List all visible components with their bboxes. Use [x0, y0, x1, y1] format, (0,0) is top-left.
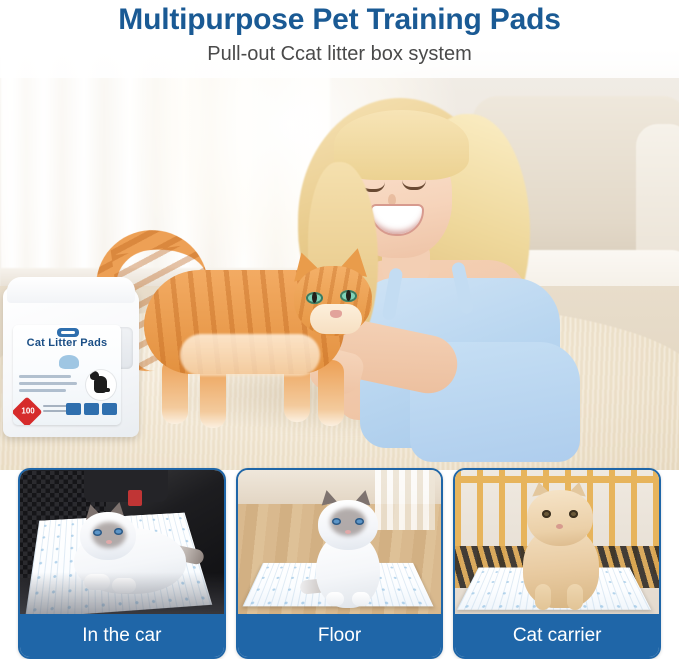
ragdoll-cat-sitting: [300, 488, 400, 610]
package-top: [7, 277, 135, 303]
feature-line: [19, 389, 66, 392]
cat-paw-left: [326, 592, 344, 606]
cat-leg-right: [567, 584, 583, 610]
product-infographic: Cat Litter Pads 100: [0, 0, 679, 659]
cat-silhouette-icon: [86, 370, 116, 400]
car-seat-icon: [20, 470, 224, 618]
feature-line: [19, 375, 71, 378]
british-shorthair-cat: [509, 480, 619, 614]
litter-box-icon: [59, 355, 79, 369]
cat-pupil-left: [312, 292, 317, 303]
cat-eye-right: [114, 528, 123, 535]
cat-nose: [330, 310, 342, 318]
panel-in-the-car[interactable]: In the car: [18, 468, 226, 659]
panel-caption-bar: Cat carrier: [455, 614, 659, 657]
panel-caption-label: Floor: [318, 626, 361, 646]
product-package: Cat Litter Pads 100: [3, 287, 139, 437]
feature-badge-1: [66, 403, 81, 415]
feature-badge-2: [84, 403, 99, 415]
cage-icon: [455, 470, 659, 618]
panel-caption-label: In the car: [82, 626, 161, 646]
cat-eye-right: [355, 518, 364, 525]
count-badge-value: 100: [17, 406, 39, 415]
cat-eye-left: [332, 518, 341, 525]
cat-silhouette-shape: [94, 376, 107, 393]
cat-nose: [345, 530, 351, 534]
panel-caption-label: Cat carrier: [513, 626, 602, 646]
cat-pupil-right: [346, 290, 351, 301]
cat-eye-left: [93, 529, 102, 536]
page-title: Multipurpose Pet Training Pads: [0, 3, 679, 37]
wood-floor-icon: [238, 470, 442, 618]
panel-caption-bar: Floor: [238, 614, 442, 657]
page-subtitle: Pull-out Ccat litter box system: [0, 42, 679, 66]
header: Multipurpose Pet Training Pads Pull-out …: [0, 0, 679, 78]
use-case-panels: In the car: [0, 468, 679, 659]
count-badge: 100: [13, 396, 43, 425]
package-label: Cat Litter Pads 100: [13, 325, 121, 425]
panel-cat-carrier[interactable]: Cat carrier: [453, 468, 661, 659]
feature-line: [19, 382, 77, 385]
package-feature-badges: [66, 403, 117, 415]
panel-floor[interactable]: Floor: [236, 468, 444, 659]
cat-belly: [180, 334, 320, 376]
feature-badge-3: [102, 403, 117, 415]
cat-muzzle: [310, 304, 362, 334]
car-seat-shadow: [20, 572, 224, 618]
panel-caption-bar: In the car: [20, 614, 224, 657]
package-feature-list: [19, 375, 81, 396]
cat-leg-4: [318, 360, 344, 426]
cat-leg-left: [535, 584, 551, 610]
cat-nose: [106, 540, 112, 544]
package-product-name: Cat Litter Pads: [13, 337, 121, 349]
brand-oval-logo: [57, 328, 79, 337]
cat-paw-right: [352, 592, 370, 606]
cat-head: [527, 490, 593, 546]
